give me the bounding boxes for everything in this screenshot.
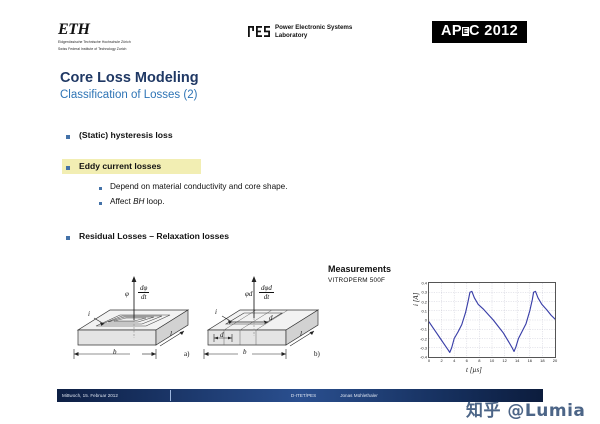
apec-label-part2: C 2012 <box>469 23 518 39</box>
chart-y-tick-label: 0.1 <box>421 308 427 313</box>
footer-author: Jonas Mühlethaler <box>340 393 378 398</box>
chart-x-tick-label: 8 <box>478 358 480 363</box>
pes-label-line1: Power Electronic Systems <box>275 24 352 32</box>
diagram-b-dim-l-label: l <box>300 330 302 338</box>
logo-bar: ETH Eidgenössische Technische Hochschule… <box>0 0 600 62</box>
diagram-b-dim-b-label: b <box>243 348 247 356</box>
current-waveform-chart: i [A] 0.40.30.20.10-0.1-0.2-0.3-0.402468… <box>414 280 559 378</box>
sub-bullet-item-bh-loop: Affect BH loop. <box>99 197 366 208</box>
chart-x-tick-label: 2 <box>440 358 442 363</box>
diagram-group: φ dφ dt i b l a) <box>72 268 322 368</box>
chart-x-tick-label: 6 <box>466 358 468 363</box>
chart-x-tick-label: 4 <box>453 358 455 363</box>
chart-y-tick-label: 0.4 <box>421 281 427 286</box>
diagram-a-current-label: i <box>88 310 90 318</box>
diagram-a-rate-numerator: dφ <box>138 284 149 293</box>
chart-y-tick-label: -0.2 <box>420 336 427 341</box>
diagram-b-current-label: i <box>215 308 217 316</box>
diagram-b-flux-label: φd <box>245 290 252 298</box>
diagram-b-inner-label: d <box>269 314 273 322</box>
pes-label: Power Electronic Systems Laboratory <box>275 24 352 40</box>
sub-bullet-list: Depend on material conductivity and core… <box>99 182 366 208</box>
sub-bullet-label-post: loop. <box>144 197 164 206</box>
apec-logo-icon: APEC 2012 <box>432 21 527 43</box>
chart-x-tick-label: 14 <box>515 358 519 363</box>
chart-y-axis-label: i [A] <box>412 293 420 306</box>
chart-y-tick-label: -0.4 <box>420 355 427 360</box>
diagram-b-svg <box>202 268 327 364</box>
chart-x-tick-label: 10 <box>490 358 494 363</box>
page-title-sub: Classification of Losses (2) <box>60 88 199 102</box>
apec-e-block-icon: E <box>462 27 469 36</box>
sub-bullet-marker-icon <box>99 202 102 205</box>
bullet-marker-icon <box>66 166 70 170</box>
apec-label: APEC 2012 <box>441 24 518 39</box>
diagram-a-caption: a) <box>184 350 189 358</box>
chart-x-tick-label: 18 <box>540 358 544 363</box>
diagram-a-svg <box>72 268 197 364</box>
bullet-label: Eddy current losses <box>79 161 161 173</box>
eth-tagline-en: Swiss Federal Institute of Technology Zu… <box>58 47 188 52</box>
measurements-block: Measurements VITROPERM 500F <box>328 264 391 284</box>
bullet-label: (Static) hysteresis loss <box>79 130 173 142</box>
bullet-label: Residual Losses – Relaxation losses <box>79 231 229 243</box>
diagram-solid-core: φ dφ dt i b l a) <box>72 268 197 369</box>
diagram-a-flux-label: φ <box>125 290 129 298</box>
diagram-b-rate-denominator: dt <box>259 293 274 301</box>
sub-bullet-label: Depend on material conductivity and core… <box>110 182 288 193</box>
pes-glyph-icon <box>248 26 270 37</box>
chart-x-tick-label: 16 <box>528 358 532 363</box>
bullet-marker-icon <box>66 236 70 240</box>
diagram-a-rate-denominator: dt <box>138 293 149 301</box>
diagram-b-rate-label: dφd dt <box>259 284 274 301</box>
chart-y-tick-label: -0.1 <box>420 327 427 332</box>
bullet-item-eddy-current-highlight: Eddy current losses <box>62 159 201 175</box>
chart-x-tick-label: 0 <box>428 358 430 363</box>
eth-logo-icon: ETH Eidgenössische Technische Hochschule… <box>58 22 188 52</box>
footer-department: D-ITET/PES <box>291 393 316 398</box>
measurements-material: VITROPERM 500F <box>328 277 391 284</box>
diagram-b-caption: b) <box>314 350 320 358</box>
diagram-a-dim-l-label: l <box>170 330 172 338</box>
bullet-spacer <box>66 213 366 231</box>
diagram-a-rate-label: dφ dt <box>138 284 149 301</box>
chart-plot-area: 0.40.30.20.10-0.1-0.2-0.3-0.402468101214… <box>428 282 556 358</box>
page-title: Core Loss Modeling Classification of Los… <box>60 70 199 102</box>
diagram-b-rate-numerator: dφd <box>259 284 274 293</box>
sub-bullet-marker-icon <box>99 187 102 190</box>
measurements-heading: Measurements <box>328 264 391 275</box>
footer-divider <box>170 390 171 401</box>
bullet-item-eddy-current: Eddy current losses <box>66 161 161 173</box>
pes-label-line2: Laboratory <box>275 32 352 40</box>
apec-label-part1: AP <box>441 23 462 39</box>
bullet-item-hysteresis: (Static) hysteresis loss <box>66 130 366 142</box>
chart-x-axis-label: t [µs] <box>466 366 482 374</box>
eth-wordmark: ETH <box>58 22 188 38</box>
footer-date: Mittwoch, 15. Februar 2012 <box>62 393 118 398</box>
bullet-item-residual: Residual Losses – Relaxation losses <box>66 231 366 243</box>
watermark: 知乎 @Lumia <box>466 396 585 421</box>
chart-x-tick-label: 12 <box>502 358 506 363</box>
sub-bullet-item-conductivity: Depend on material conductivity and core… <box>99 182 366 193</box>
page-title-main: Core Loss Modeling <box>60 70 199 87</box>
sub-bullet-label: Affect BH loop. <box>110 197 164 208</box>
eth-tagline-de: Eidgenössische Technische Hochschule Zür… <box>58 40 188 45</box>
chart-y-tick-label: -0.3 <box>420 345 427 350</box>
sub-bullet-label-pre: Affect <box>110 197 133 206</box>
diagram-b-dim-d-label: d <box>220 331 224 339</box>
bullet-list: (Static) hysteresis loss Eddy current lo… <box>66 130 366 243</box>
chart-y-tick-label: 0.3 <box>421 290 427 295</box>
chart-y-tick-label: 0 <box>425 318 427 323</box>
bullet-marker-icon <box>66 135 70 139</box>
chart-y-tick-label: 0.2 <box>421 299 427 304</box>
slide-canvas: ETH Eidgenössische Technische Hochschule… <box>0 0 600 424</box>
sub-bullet-label-em: BH <box>133 197 144 206</box>
flux-arrowhead-icon <box>132 276 137 282</box>
chart-x-tick-label: 20 <box>553 358 557 363</box>
diagram-laminated-core: φd dφd dt i d d b l b) <box>202 268 327 369</box>
diagram-a-dim-b-label: b <box>113 348 117 356</box>
chart-svg <box>429 283 555 357</box>
pes-logo-icon: Power Electronic Systems Laboratory <box>248 24 352 40</box>
